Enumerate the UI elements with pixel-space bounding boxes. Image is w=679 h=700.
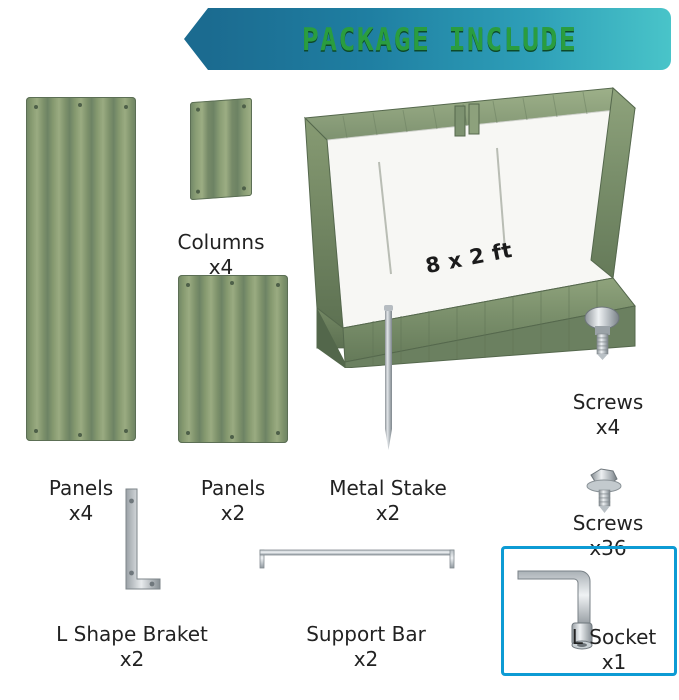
- part-image-screws-4: [578, 305, 636, 361]
- part-name-l-shape-braket-2: L Shape Braket: [56, 622, 208, 646]
- part-qty-l-shape-braket-2: x2: [12, 647, 252, 672]
- part-qty-metal-stake-2: x2: [300, 501, 476, 526]
- part-qty-support-bar-2: x2: [268, 647, 464, 672]
- part-name-panels-4: Panels: [49, 476, 113, 500]
- part-image-panels-4: [26, 97, 136, 441]
- part-name-support-bar-2: Support Bar: [306, 622, 426, 646]
- part-image-support-bar-2: [258, 548, 456, 570]
- label-support-bar-2: Support Bar x2: [268, 597, 464, 697]
- part-image-panels-2: [178, 275, 288, 443]
- part-name-panels-2: Panels: [201, 476, 265, 500]
- label-l-shape-braket-2: L Shape Braket x2: [12, 597, 252, 697]
- part-name-columns-4: Columns: [177, 230, 264, 254]
- label-metal-stake-2: Metal Stake x2: [300, 451, 476, 551]
- part-qty-screws-4: x4: [543, 415, 673, 440]
- label-screws-4: Screws x4: [543, 365, 673, 465]
- part-qty-l-socket-1: x1: [558, 650, 670, 675]
- part-name-metal-stake-2: Metal Stake: [329, 476, 447, 500]
- package-include-infographic: PACKAGE INCLUDE Panels x4 Columns x4: [0, 0, 679, 679]
- part-name-screws-4: Screws: [573, 390, 644, 414]
- part-image-l-shape-braket-2: [110, 487, 166, 595]
- page-title: PACKAGE INCLUDE: [302, 21, 577, 58]
- part-image-metal-stake-2: [380, 305, 392, 445]
- label-panels-2: Panels x2: [168, 451, 298, 551]
- part-name-l-socket-1: L Socket: [572, 625, 656, 649]
- header-banner: PACKAGE INCLUDE: [208, 8, 671, 70]
- label-l-socket-1: L Socket x1: [558, 600, 670, 700]
- part-qty-panels-2: x2: [168, 501, 298, 526]
- rivet-group: [26, 97, 136, 441]
- part-name-screws-36: Screws: [573, 511, 644, 535]
- part-image-columns-4: [190, 98, 252, 200]
